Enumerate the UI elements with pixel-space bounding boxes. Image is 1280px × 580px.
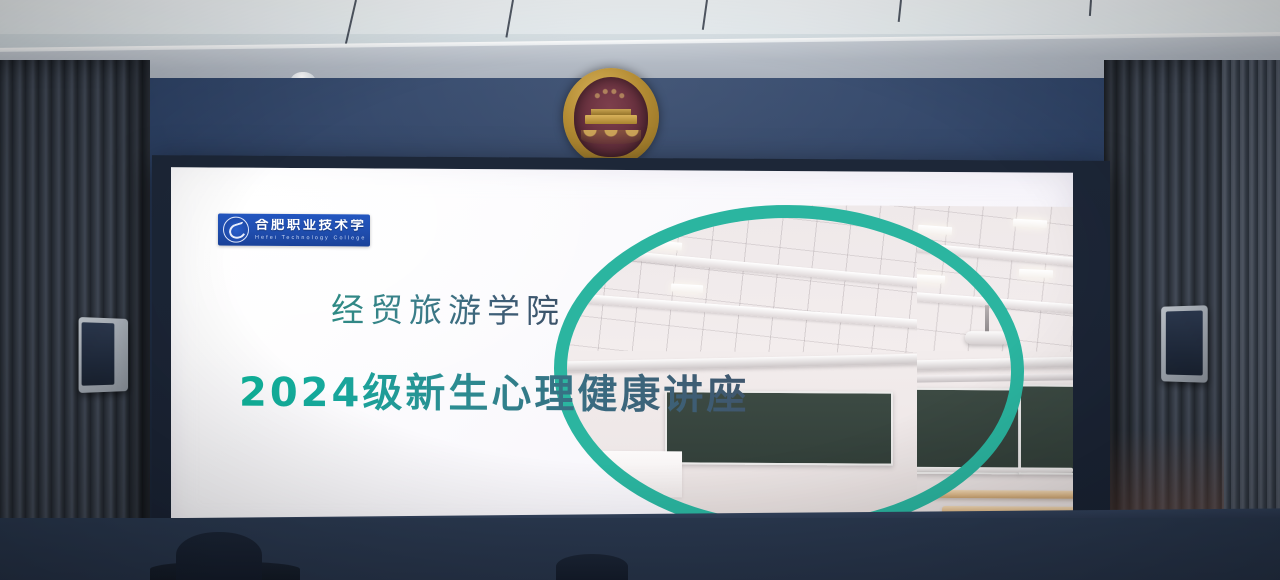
classroom-desk (567, 483, 626, 492)
speaker-grille (1166, 310, 1203, 375)
college-seal-icon (223, 217, 249, 243)
classroom-light-panel (1019, 269, 1053, 278)
audience-silhouette-right (556, 554, 628, 580)
speaker-grille (82, 322, 115, 386)
national-emblem-icon (563, 68, 659, 166)
slide-heading-title: 2024级新生心理健康讲座 (239, 360, 749, 421)
classroom-chalkboard (1019, 385, 1073, 476)
classroom-desk (567, 505, 581, 514)
slide-heading-department: 经贸旅游学院 (331, 283, 565, 332)
wall-speaker-left (79, 317, 128, 393)
ceiling-light-panel (0, 0, 1280, 34)
college-name-en: Hefei Technology College (255, 235, 365, 241)
emblem-gate (585, 115, 637, 124)
presentation-slide[interactable]: 合肥职业技术学院 Hefei Technology College (171, 167, 1073, 537)
emblem-stars (593, 88, 629, 102)
college-logo-text: 合肥职业技术学院 Hefei Technology College (255, 219, 365, 242)
classroom-desk-leg (581, 496, 584, 514)
audience-silhouette-left (176, 532, 262, 580)
wall-speaker-right (1161, 305, 1208, 382)
emblem-wheat-wreath (581, 130, 641, 144)
lecture-hall-scene: 合肥职业技术学院 Hefei Technology College (0, 0, 1280, 580)
college-name-cn: 合肥职业技术学院 (255, 219, 365, 233)
college-logo: 合肥职业技术学院 Hefei Technology College (218, 214, 370, 247)
classroom-desk (931, 490, 1073, 499)
